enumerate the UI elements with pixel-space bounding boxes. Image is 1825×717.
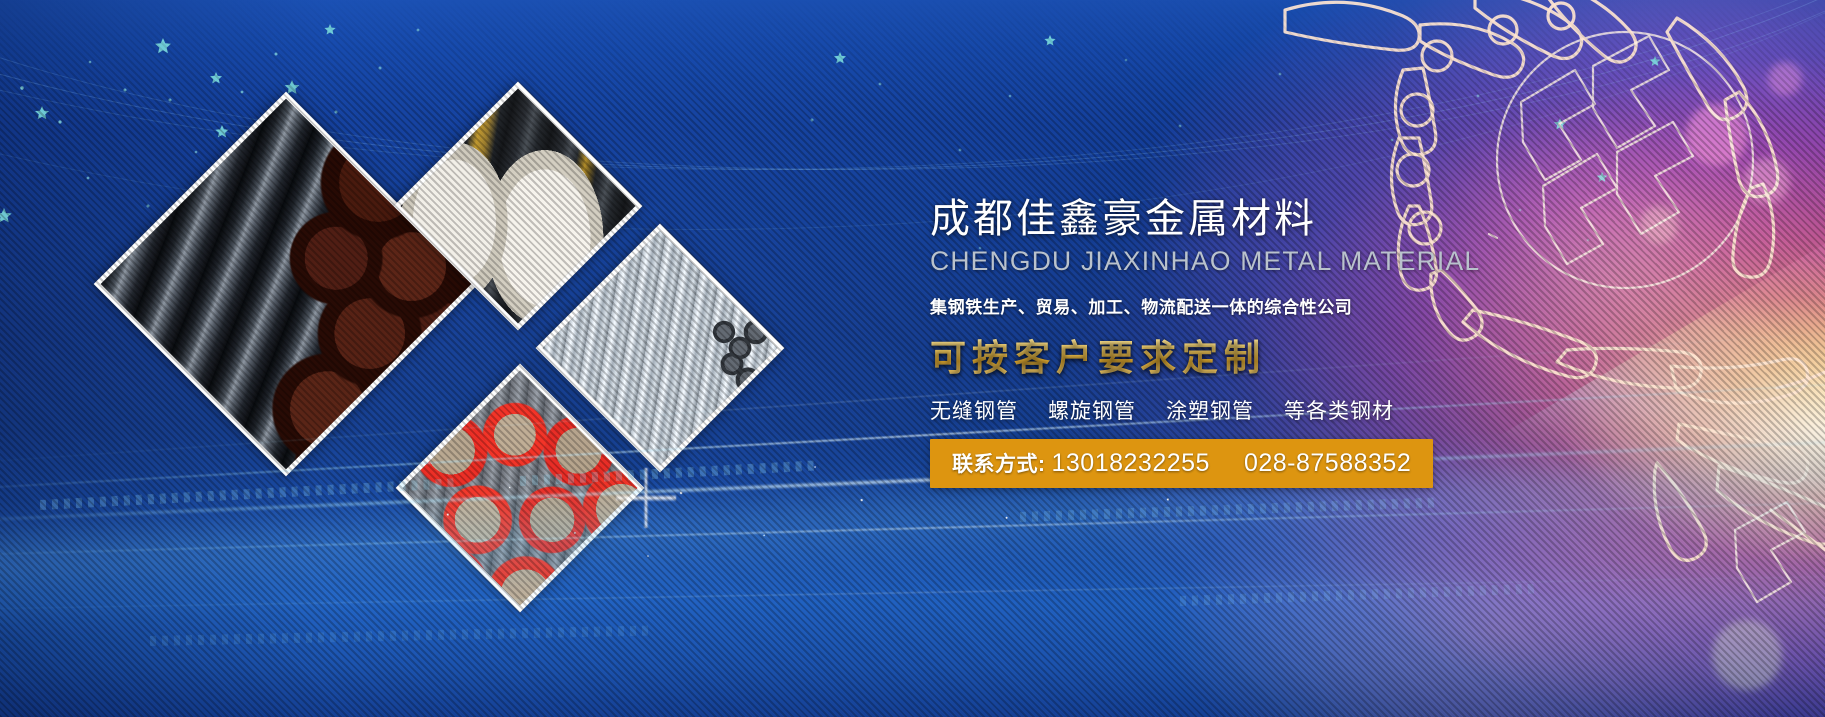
contact-mobile[interactable]: 13018232255 xyxy=(1052,449,1210,478)
contact-label: 联系方式: xyxy=(952,448,1046,478)
product-item: 等各类钢材 xyxy=(1284,395,1394,425)
custom-order-headline: 可按客户要求定制 xyxy=(930,329,1490,381)
background-stripe-texture xyxy=(0,0,1825,717)
tagline: 集钢铁生产、贸易、加工、物流配送一体的综合性公司 xyxy=(930,293,1490,318)
marketing-copy: 成都佳鑫豪金属材料 CHENGDU JIAXINHAO METAL MATERI… xyxy=(930,196,1490,488)
contact-landline[interactable]: 028-87588352 xyxy=(1244,449,1411,478)
product-item: 螺旋钢管 xyxy=(1048,395,1136,425)
contact-bar[interactable]: 联系方式: 13018232255 028-87588352 xyxy=(930,439,1433,488)
promotional-banner: 成都佳鑫豪金属材料 CHENGDU JIAXINHAO METAL MATERI… xyxy=(0,0,1825,717)
product-item: 涂塑钢管 xyxy=(1166,395,1254,425)
company-name-en: CHENGDU JIAXINHAO METAL MATERIAL xyxy=(930,247,1490,276)
product-list: 无缝钢管 螺旋钢管 涂塑钢管 等各类钢材 xyxy=(930,395,1490,425)
company-name-cn: 成都佳鑫豪金属材料 xyxy=(930,196,1490,243)
product-item: 无缝钢管 xyxy=(930,395,1018,425)
